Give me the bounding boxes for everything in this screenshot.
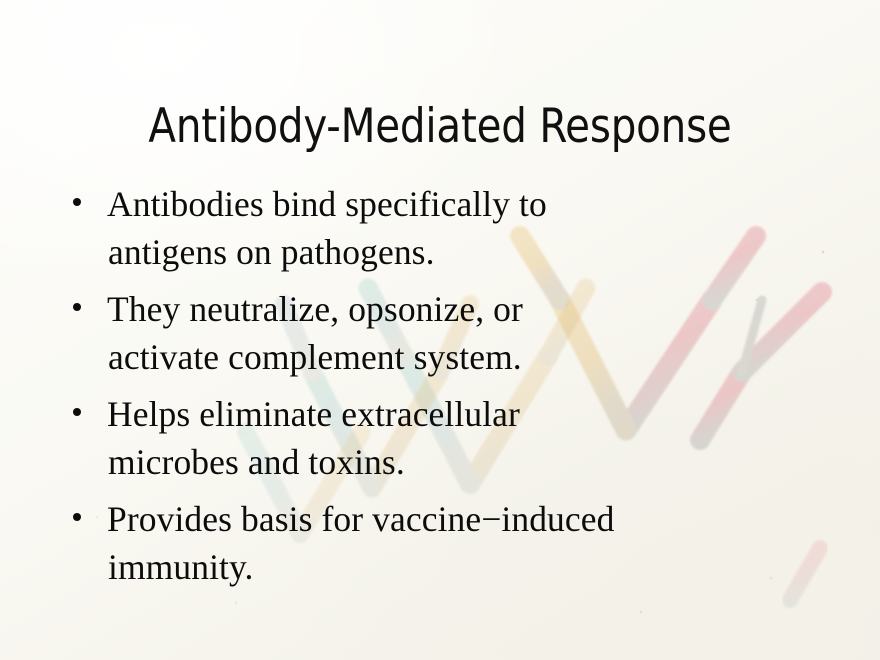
bullet-marker-icon	[73, 408, 81, 416]
list-item: They neutralize, opsonize, or activate c…	[64, 285, 854, 381]
list-item-text: Helps eliminate extracellular microbes a…	[108, 390, 854, 486]
list-item: Antibodies bind specifically to antigens…	[64, 180, 854, 276]
list-item: Provides basis for vaccine−induced immun…	[64, 495, 854, 591]
slide-content: Antibody-Mediated Response Antibodies bi…	[0, 0, 880, 660]
list-item: Helps eliminate extracellular microbes a…	[64, 390, 854, 486]
list-item-text: They neutralize, opsonize, or activate c…	[108, 285, 854, 381]
list-item-text: Provides basis for vaccine−induced immun…	[108, 495, 854, 591]
bullet-marker-icon	[73, 198, 81, 206]
bullet-marker-icon	[73, 513, 81, 521]
page-title: Antibody-Mediated Response	[20, 99, 860, 155]
bullet-list: Antibodies bind specifically to antigens…	[64, 180, 854, 591]
list-item-text: Antibodies bind specifically to antigens…	[108, 180, 854, 276]
bullet-marker-icon	[73, 303, 81, 311]
slide-canvas: Antibody-Mediated Response Antibodies bi…	[0, 0, 880, 660]
